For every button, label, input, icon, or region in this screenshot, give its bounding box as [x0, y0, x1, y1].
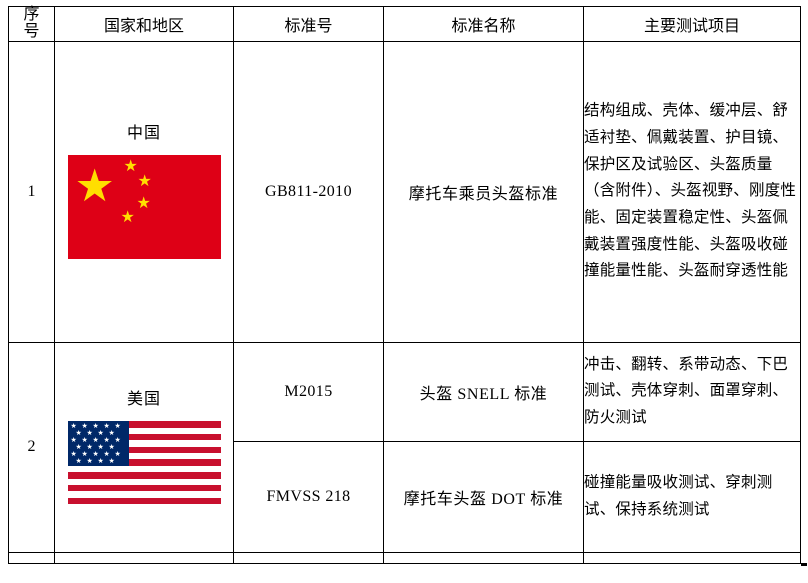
column-header-test-items: 主要测试项目	[584, 7, 801, 42]
standard-name: 头盔 SNELL 标准	[384, 342, 584, 441]
china-flag-small-star-2-icon: ★	[138, 174, 152, 190]
test-items: 冲击、翻转、系带动态、下巴测试、壳体穿刺、面罩穿刺、防火测试	[584, 342, 801, 441]
standard-name: 摩托车头盔 DOT 标准	[384, 441, 584, 552]
column-header-standard-name: 标准名称	[384, 7, 584, 42]
row-number: 2	[9, 342, 55, 552]
helmet-standards-table: 序 号 国家和地区 标准号 标准名称 主要测试项目 1 中国 ★ ★	[8, 6, 801, 564]
column-header-no-line1: 序	[9, 7, 54, 24]
column-header-country: 国家和地区	[55, 7, 234, 42]
standard-name: 摩托车乘员头盔标准	[384, 41, 584, 342]
country-cell	[55, 552, 234, 563]
column-header-standard-code: 标准号	[234, 7, 384, 42]
country-label: 中国	[55, 124, 233, 143]
china-flag-large-star-icon: ★	[75, 164, 115, 209]
table-row-partial	[9, 552, 801, 563]
table-row: 2 美国 ★	[9, 342, 801, 441]
standard-code: FMVSS 218	[234, 441, 384, 552]
standard-name	[384, 552, 584, 563]
test-items: 结构组成、壳体、缓冲层、舒适衬垫、佩戴装置、护目镜、保护区及试验区、头盔质量（含…	[584, 41, 801, 342]
test-items: 碰撞能量吸收测试、穿刺测试、保持系统测试	[584, 441, 801, 552]
usa-flag-icon: ★ ★ ★ ★ ★ ★ ★ ★ ★ ★ ★ ★	[68, 421, 221, 504]
test-items	[584, 552, 801, 563]
country-cell-china: 中国 ★ ★ ★ ★ ★	[55, 41, 234, 342]
china-flag-small-star-1-icon: ★	[124, 159, 138, 175]
column-header-no-line2: 号	[9, 24, 54, 41]
document-page: 序 号 国家和地区 标准号 标准名称 主要测试项目 1 中国 ★ ★	[0, 0, 808, 583]
standard-code: M2015	[234, 342, 384, 441]
page-edge-mark	[801, 563, 807, 566]
standard-code: GB811-2010	[234, 41, 384, 342]
usa-flag-canton: ★ ★ ★ ★ ★ ★ ★ ★ ★ ★ ★ ★	[68, 421, 129, 466]
flag-wrapper: ★ ★ ★ ★ ★	[55, 155, 233, 259]
china-flag-small-star-4-icon: ★	[121, 210, 135, 226]
table-header-row: 序 号 国家和地区 标准号 标准名称 主要测试项目	[9, 7, 801, 42]
column-header-no: 序 号	[9, 7, 55, 42]
china-flag-small-star-3-icon: ★	[137, 196, 151, 212]
country-cell-usa: 美国 ★ ★ ★	[55, 342, 234, 552]
table-row: 1 中国 ★ ★ ★ ★ ★ GB811-2010 摩托车乘员头盔标准	[9, 41, 801, 342]
row-number: 1	[9, 41, 55, 342]
china-flag-icon: ★ ★ ★ ★ ★	[68, 155, 221, 259]
flag-wrapper: ★ ★ ★ ★ ★ ★ ★ ★ ★ ★ ★ ★	[55, 421, 233, 504]
country-label: 美国	[55, 390, 233, 409]
standard-code	[234, 552, 384, 563]
row-number	[9, 552, 55, 563]
